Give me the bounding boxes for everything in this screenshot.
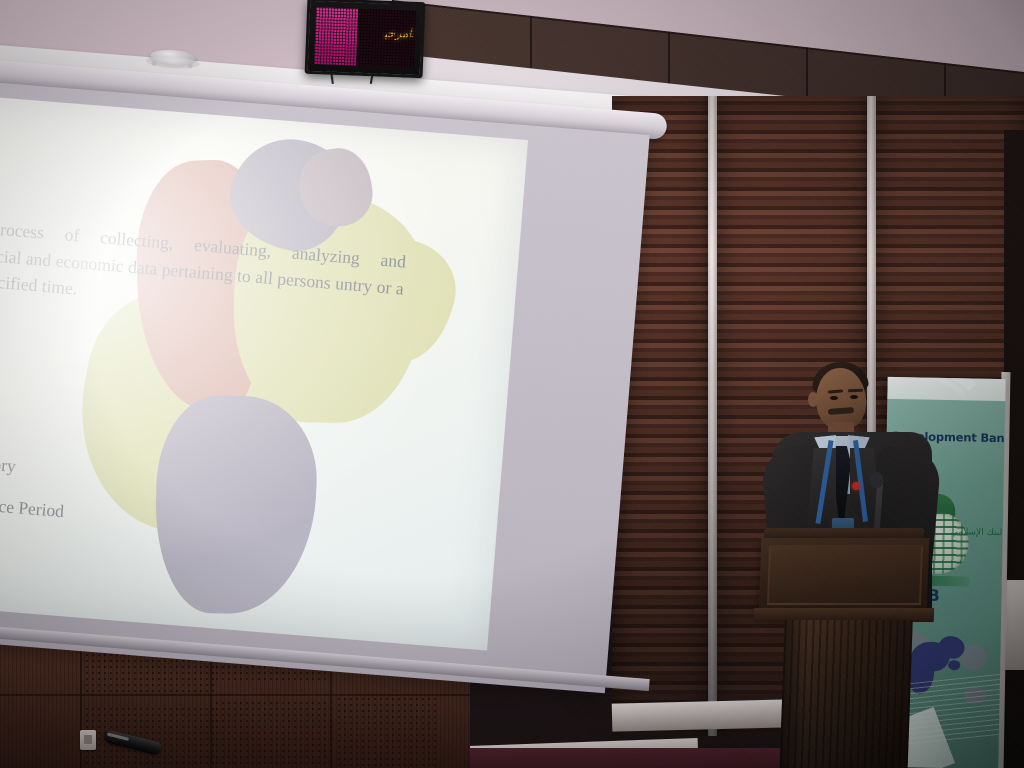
lapel-pin: [852, 482, 860, 490]
sprinkler-head-icon: [145, 48, 200, 70]
speaker-ear: [808, 392, 818, 407]
wooden-lectern: [730, 528, 940, 768]
lectern-shading: [779, 620, 913, 768]
podium-microphone-head: [870, 472, 883, 488]
perforated-panel: [214, 700, 332, 768]
panel-seam: [0, 694, 470, 696]
perforated-panel: [336, 696, 436, 768]
led-scrolling-display: ﺎﻣﺮﺣﺒ: [305, 0, 426, 78]
slide-bullet-list: idual Enumeration ersality within a defi…: [0, 387, 384, 596]
lectern-front-panel: [767, 545, 923, 605]
slide-body-text: Census is the total process of collectin…: [0, 200, 407, 329]
led-screen: ﺎﻣﺮﺣﺒ: [314, 7, 416, 68]
window-mullion: [708, 96, 717, 736]
light-switch[interactable]: [80, 730, 96, 750]
led-dot-matrix: [314, 7, 416, 68]
logo-arabic-text: البنك الإسلامي: [951, 528, 991, 539]
conference-hall-photo: ﺎﻣﺮﺣﺒ: [0, 0, 1024, 768]
projected-slide: N CENSUS ON Census is the total process …: [0, 92, 528, 650]
